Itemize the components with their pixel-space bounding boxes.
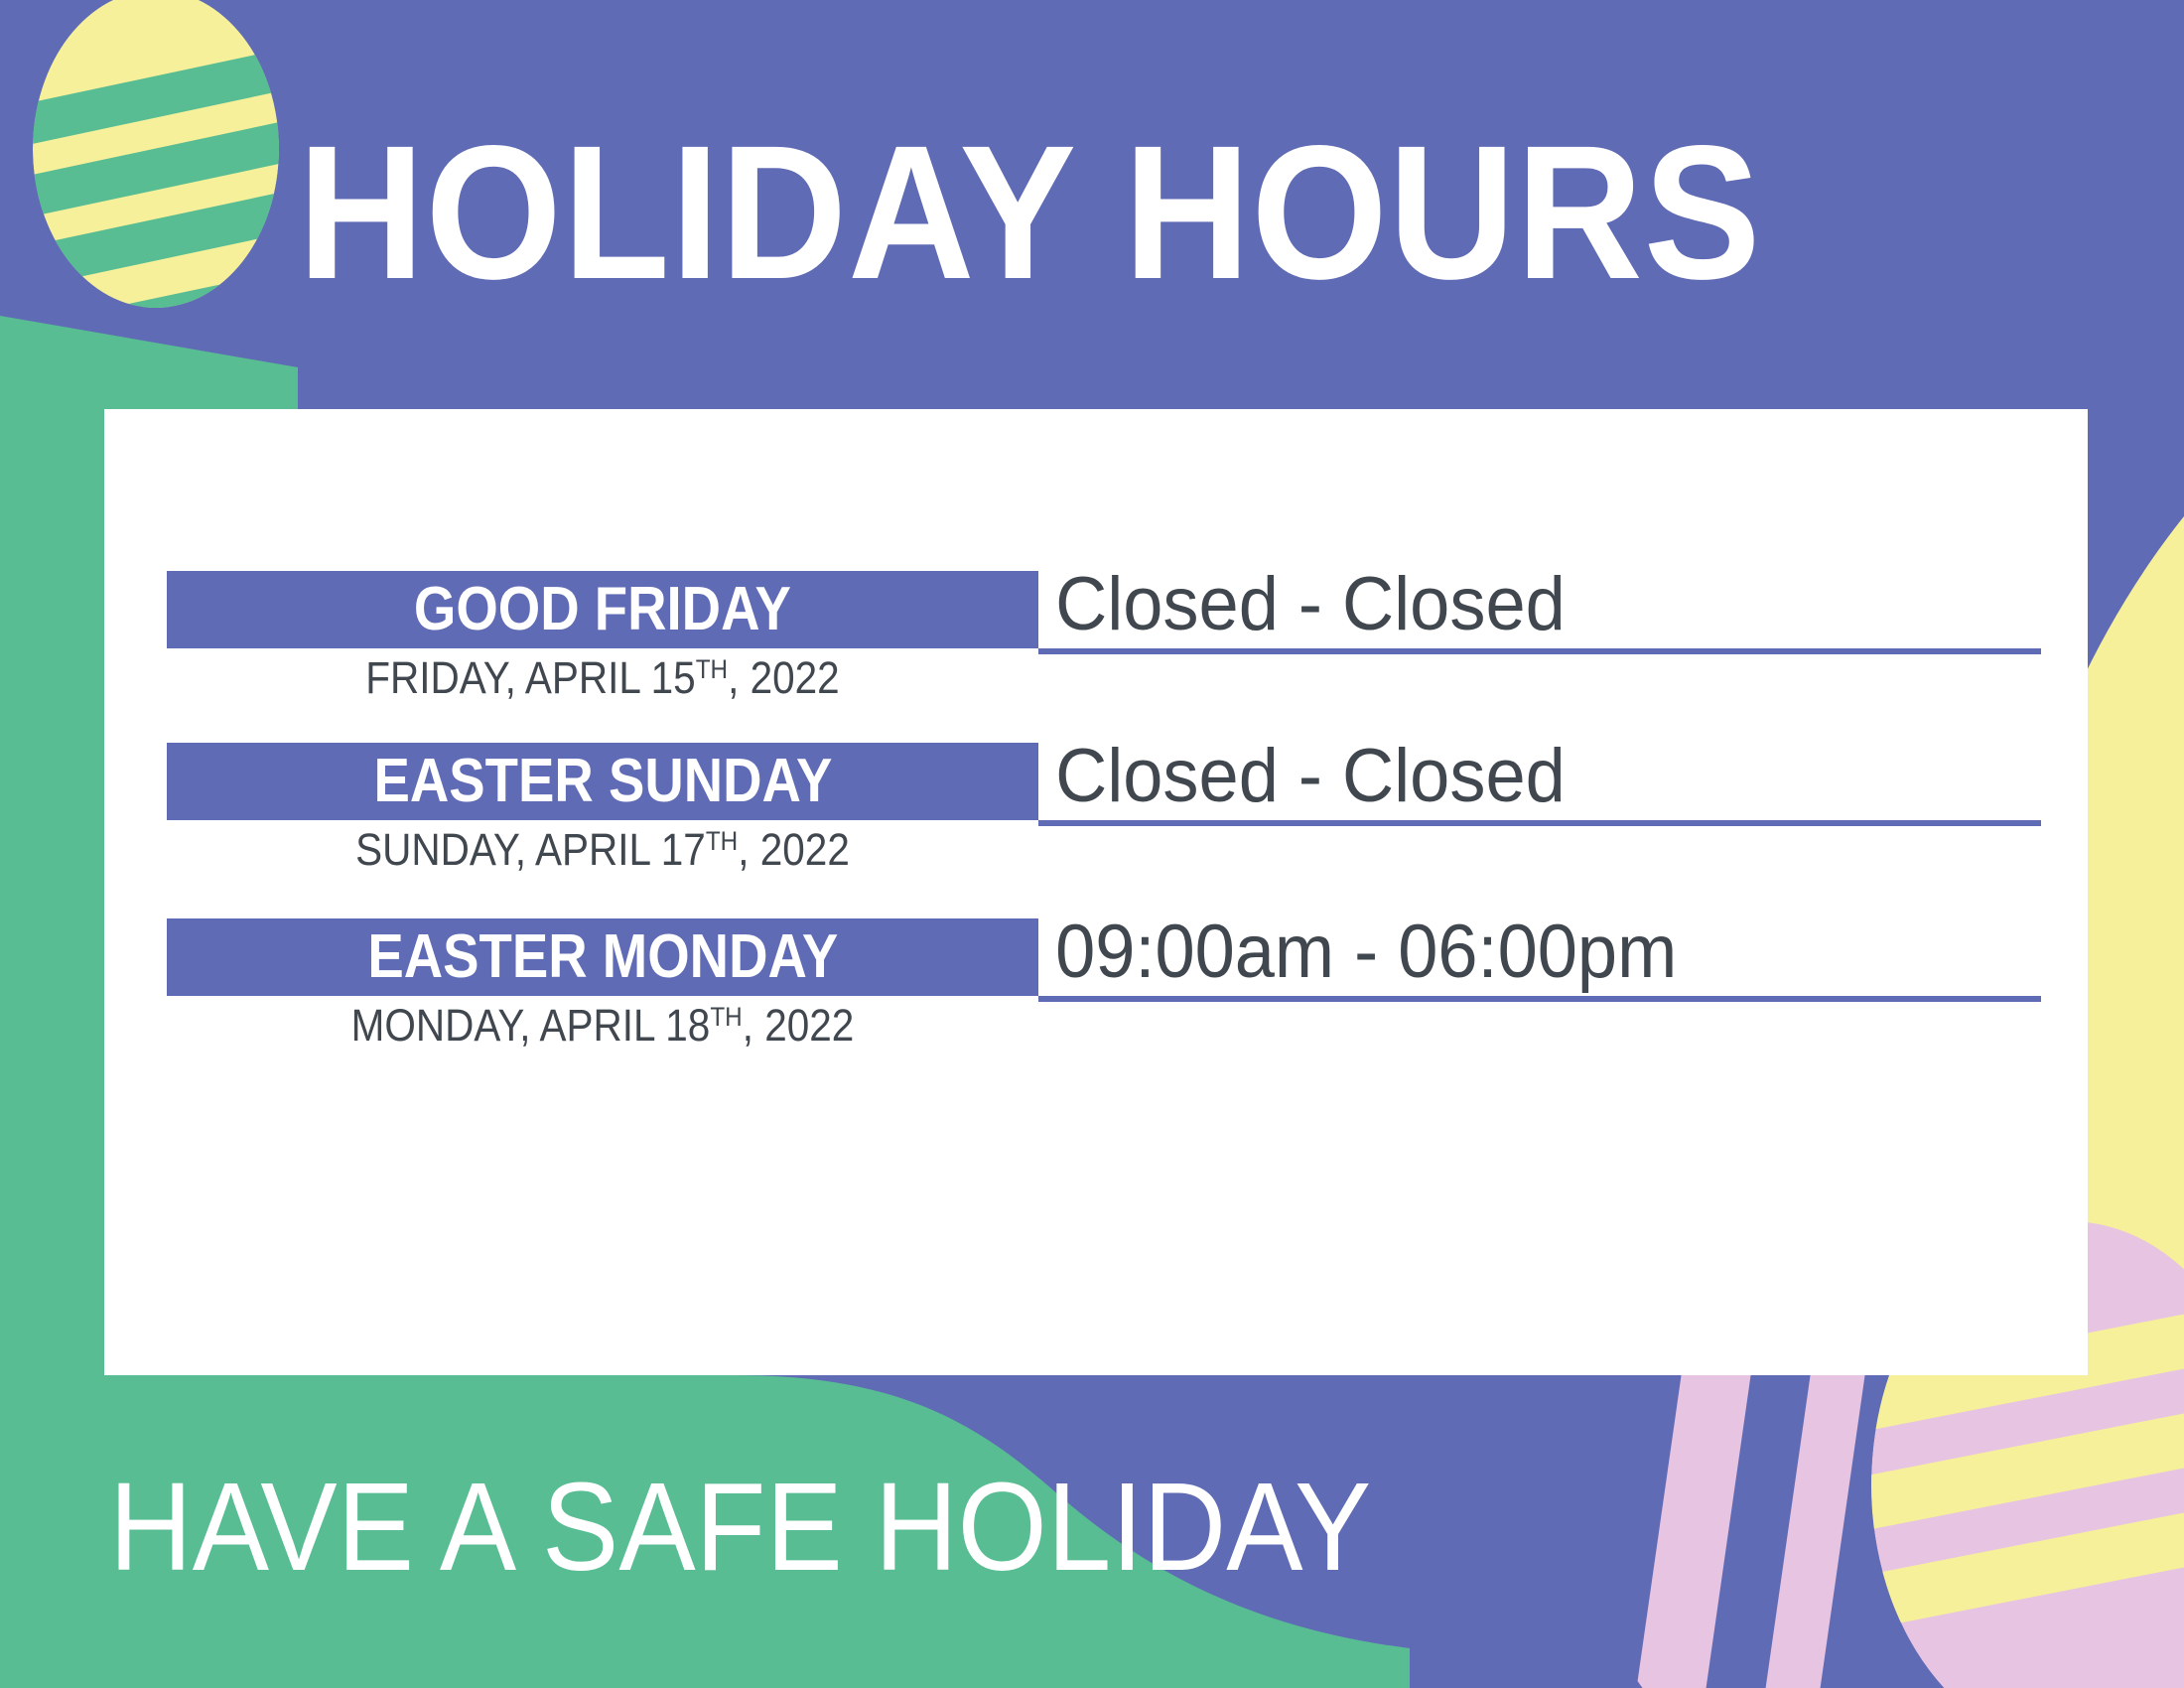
date-suffix: , 2022	[728, 652, 840, 703]
date-suffix: , 2022	[738, 824, 850, 875]
holiday-hours: Closed - Closed	[1038, 737, 1566, 820]
holiday-name: EASTER SUNDAY	[373, 751, 832, 812]
date-prefix: FRIDAY, APRIL 15	[365, 652, 695, 703]
holiday-name: EASTER MONDAY	[367, 926, 838, 988]
holiday-date: MONDAY, APRIL 18TH, 2022	[210, 1000, 995, 1052]
holiday-hours-field: Closed - Closed	[1038, 725, 2041, 826]
date-ordinal: TH	[696, 654, 728, 684]
holiday-name-bar: GOOD FRIDAY	[167, 571, 1038, 648]
holiday-name-bar: EASTER SUNDAY	[167, 743, 1038, 820]
holiday-hours-field: 09:00am - 06:00pm	[1038, 901, 2041, 1002]
footer-message: HAVE A SAFE HOLIDAY	[109, 1465, 1371, 1590]
holiday-hours-field: Closed - Closed	[1038, 553, 2041, 654]
holiday-name-bar: EASTER MONDAY	[167, 918, 1038, 996]
date-suffix: , 2022	[743, 1000, 855, 1051]
holiday-name: GOOD FRIDAY	[414, 579, 791, 640]
date-ordinal: TH	[710, 1002, 742, 1032]
date-prefix: MONDAY, APRIL 18	[351, 1000, 711, 1051]
holiday-date: FRIDAY, APRIL 15TH, 2022	[210, 652, 995, 704]
date-prefix: SUNDAY, APRIL 17	[355, 824, 706, 875]
schedule-list: GOOD FRIDAY FRIDAY, APRIL 15TH, 2022 Clo…	[0, 0, 2184, 1688]
holiday-hours: Closed - Closed	[1038, 565, 1566, 648]
holiday-hours: 09:00am - 06:00pm	[1038, 913, 1677, 996]
holiday-date: SUNDAY, APRIL 17TH, 2022	[210, 824, 995, 876]
date-ordinal: TH	[706, 826, 738, 856]
holiday-hours-poster: HOLIDAY HOURS GOOD FRIDAY FRIDAY, APRIL …	[0, 0, 2184, 1688]
